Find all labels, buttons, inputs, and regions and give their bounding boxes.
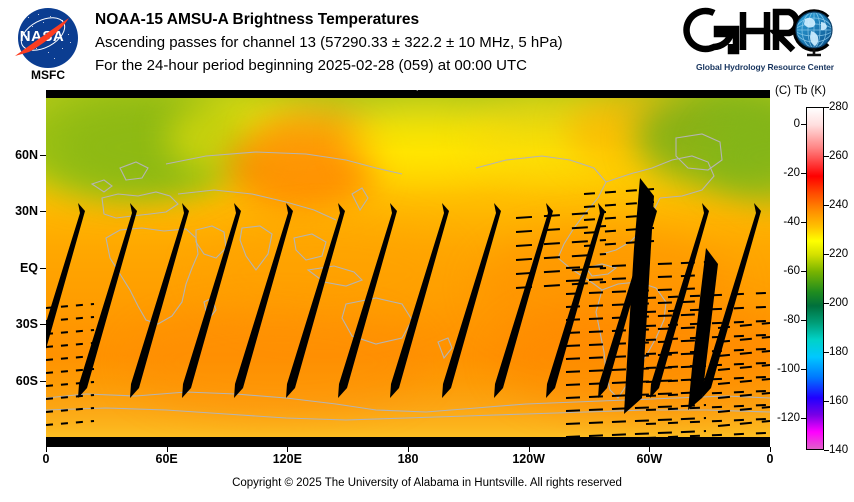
colorbar-kelvin-tick [824, 303, 829, 304]
colorbar-celsius-label: -80 [783, 314, 800, 326]
x-axis-tick-label: 60W [636, 452, 662, 466]
colorbar-celsius-tick [801, 418, 806, 419]
left-arrow-annotation-icon [406, 82, 464, 91]
colorbar-kelvin-label: 160 [829, 395, 848, 407]
colorbar-kelvin-tick [824, 254, 829, 255]
colorbar-celsius-label: -20 [783, 167, 800, 179]
page-title: NOAA-15 AMSU-A Brightness Temperatures [95, 9, 675, 31]
colorbar-celsius-label: 0 [794, 118, 800, 130]
x-axis-tick-label: 120E [273, 452, 302, 466]
colorbar-celsius-tick [801, 173, 806, 174]
x-axis-tick-mark [167, 447, 168, 452]
title-subtitle-channel: Ascending passes for channel 13 (57290.3… [95, 31, 675, 54]
colorbar-celsius-tick [801, 271, 806, 272]
nasa-logo: NASA MSFC [12, 6, 84, 84]
colorbar-kelvin-tick [824, 156, 829, 157]
colorbar-kelvin-label: 280 [829, 101, 848, 113]
colorbar-celsius-tick [801, 369, 806, 370]
copyright-notice: Copyright © 2025 The University of Alaba… [0, 477, 854, 489]
colorbar-celsius-label: -120 [777, 412, 800, 424]
colorbar-celsius-tick [801, 222, 806, 223]
x-axis-tick-label: 0 [767, 452, 774, 466]
ghrc-tagline: Global Hydrology Resource Center [681, 62, 849, 72]
colorbar-kelvin-tick [824, 401, 829, 402]
map-plot-area[interactable] [46, 90, 770, 447]
colorbar-celsius-tick [801, 124, 806, 125]
ghrc-logo: Global Hydrology Resource Center [681, 6, 849, 80]
colorbar-gradient [807, 108, 823, 449]
y-axis-tick-label: EQ [0, 261, 38, 275]
y-axis-tick-mark [40, 381, 46, 382]
y-axis-tick-mark [40, 155, 46, 156]
colorbar-celsius-label: -100 [777, 363, 800, 375]
map-nodata-band-top [46, 90, 770, 98]
colorbar-celsius-label: -40 [783, 216, 800, 228]
y-axis-tick-label: 30N [0, 204, 38, 218]
colorbar-kelvin-label: 260 [829, 150, 848, 162]
colorbar-kelvin-label: 200 [829, 297, 848, 309]
y-axis-tick-label: 30S [0, 317, 38, 331]
map-temperature-raster [46, 98, 770, 437]
ghrc-wordmark-icon [681, 6, 849, 60]
x-axis-tick-label: 0 [43, 452, 50, 466]
colorbar-celsius-label: -60 [783, 265, 800, 277]
x-axis-tick-label: 180 [398, 452, 419, 466]
x-axis-tick-label: 60E [156, 452, 178, 466]
colorbar-kelvin-label: 140 [829, 444, 848, 456]
colorbar-kelvin-tick [824, 450, 829, 451]
x-axis-tick-mark [529, 447, 530, 452]
x-axis-tick-mark [649, 447, 650, 452]
x-axis-tick-mark [46, 447, 47, 452]
x-axis-tick-mark [408, 447, 409, 452]
x-axis-tick-mark [287, 447, 288, 452]
y-axis-tick-label: 60S [0, 374, 38, 388]
colorbar-kelvin-tick [824, 107, 829, 108]
x-axis-tick-label: 120W [512, 452, 545, 466]
colorbar-header: (C) Tb (K) [775, 85, 826, 97]
x-axis-tick-mark [770, 447, 771, 452]
orbit-gap-overlay [46, 98, 770, 437]
colorbar-kelvin-label: 220 [829, 248, 848, 260]
title-subtitle-period: For the 24-hour period beginning 2025-02… [95, 54, 675, 77]
y-axis-tick-label: 60N [0, 148, 38, 162]
map-nodata-band-bottom [46, 437, 770, 447]
colorbar-kelvin-label: 180 [829, 346, 848, 358]
y-axis-tick-mark [40, 211, 46, 212]
y-axis-tick-mark [40, 324, 46, 325]
nasa-center-label: MSFC [12, 68, 84, 82]
colorbar-kelvin-tick [824, 205, 829, 206]
title-block: NOAA-15 AMSU-A Brightness Temperatures A… [95, 9, 675, 77]
colorbar-celsius-tick [801, 320, 806, 321]
colorbar-kelvin-label: 240 [829, 199, 848, 211]
colorbar-kelvin-tick [824, 352, 829, 353]
colorbar[interactable] [806, 107, 824, 450]
y-axis-tick-mark [40, 268, 46, 269]
red-chevron-icon [11, 12, 75, 62]
